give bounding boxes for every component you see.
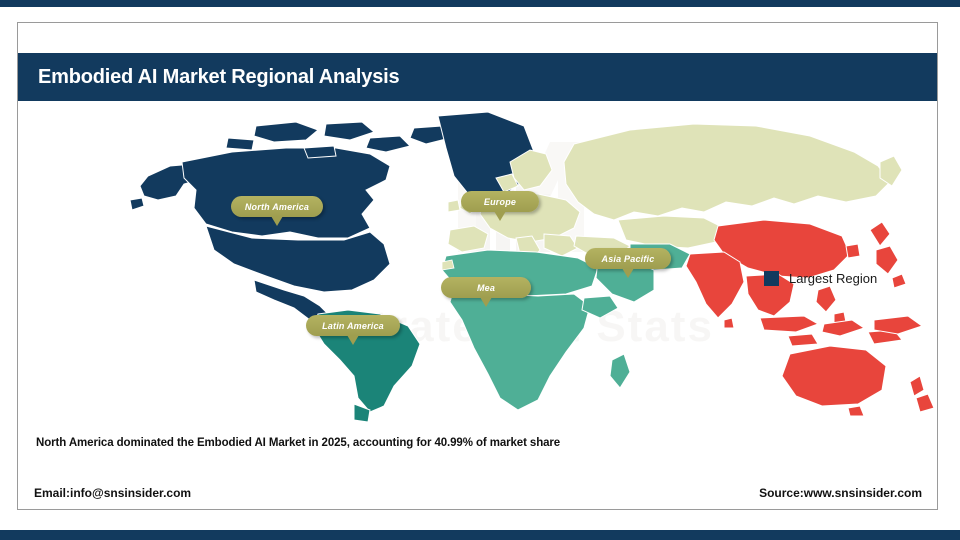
misc-islands (442, 260, 454, 270)
map-label-mea-text: Mea (477, 283, 495, 293)
legend: Largest Region (764, 271, 877, 286)
map-label-asia-pacific[interactable]: Asia Pacific (585, 248, 671, 269)
legend-item-label: Largest Region (789, 271, 877, 286)
map-label-latin-america-text: Latin America (322, 321, 384, 331)
world-map-svg (18, 104, 937, 422)
map-label-mea[interactable]: Mea (441, 277, 531, 298)
world-map-stage: Strategy & Stats (18, 104, 937, 422)
map-label-latin-america[interactable]: Latin America (306, 315, 400, 336)
map-label-europe-text: Europe (484, 197, 516, 207)
map-label-north-america-text: North America (245, 202, 309, 212)
footer-email[interactable]: Email:info@snsinsider.com (34, 486, 191, 500)
page-title: Embodied AI Market Regional Analysis (38, 66, 399, 89)
region-asia-pacific[interactable] (686, 220, 934, 416)
slide-root: Embodied AI Market Regional Analysis Str… (0, 0, 960, 540)
map-label-asia-pacific-text: Asia Pacific (602, 254, 655, 264)
title-banner: Embodied AI Market Regional Analysis (18, 53, 937, 101)
bottom-accent-bar (0, 530, 960, 540)
square-swatch-icon (764, 271, 779, 286)
caption-text: North America dominated the Embodied AI … (36, 437, 560, 449)
map-label-europe[interactable]: Europe (461, 191, 539, 212)
footer-source[interactable]: Source:www.snsinsider.com (759, 486, 922, 500)
top-accent-bar (0, 0, 960, 7)
map-label-north-america[interactable]: North America (231, 196, 323, 217)
